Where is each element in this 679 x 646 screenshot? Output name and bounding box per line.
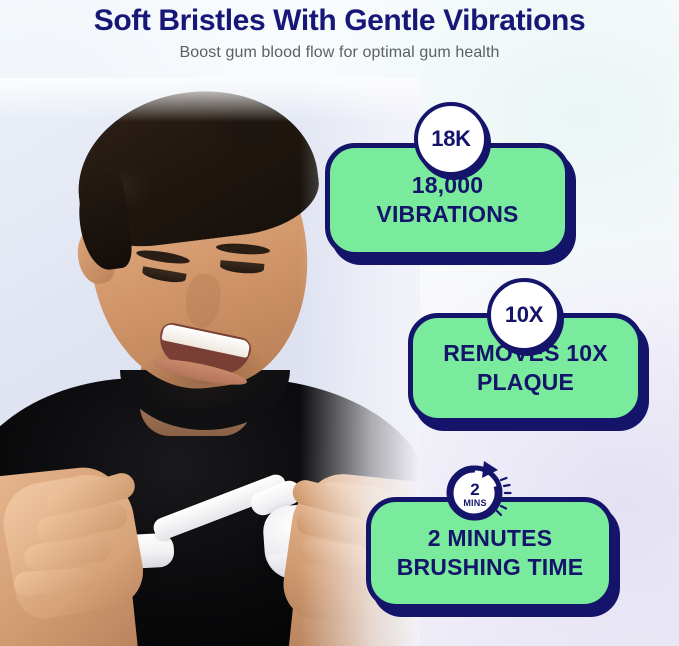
feature-card-label: 18,000 VIBRATIONS bbox=[366, 171, 528, 229]
timer-number: 2 bbox=[470, 481, 479, 498]
timer-icon: 2 MINS bbox=[444, 458, 512, 526]
feature-card-label: 2 MINUTES BRUSHING TIME bbox=[387, 524, 594, 582]
page-subtitle: Boost gum blood flow for optimal gum hea… bbox=[0, 38, 679, 62]
header: Soft Bristles With Gentle Vibrations Boo… bbox=[0, 0, 679, 62]
badge-timer: 2 MINS bbox=[444, 458, 512, 526]
badge-10x: 10X bbox=[487, 278, 561, 352]
promo-graphic: Soft Bristles With Gentle Vibrations Boo… bbox=[0, 0, 679, 646]
timer-icon-labels: 2 MINS bbox=[441, 460, 509, 528]
badge-18k: 18K bbox=[414, 102, 488, 176]
badge-label: 18K bbox=[431, 128, 470, 150]
page-title: Soft Bristles With Gentle Vibrations bbox=[0, 0, 679, 38]
badge-label: 10X bbox=[505, 304, 543, 326]
timer-unit: MINS bbox=[463, 499, 486, 508]
photo-top-fade bbox=[0, 78, 420, 122]
